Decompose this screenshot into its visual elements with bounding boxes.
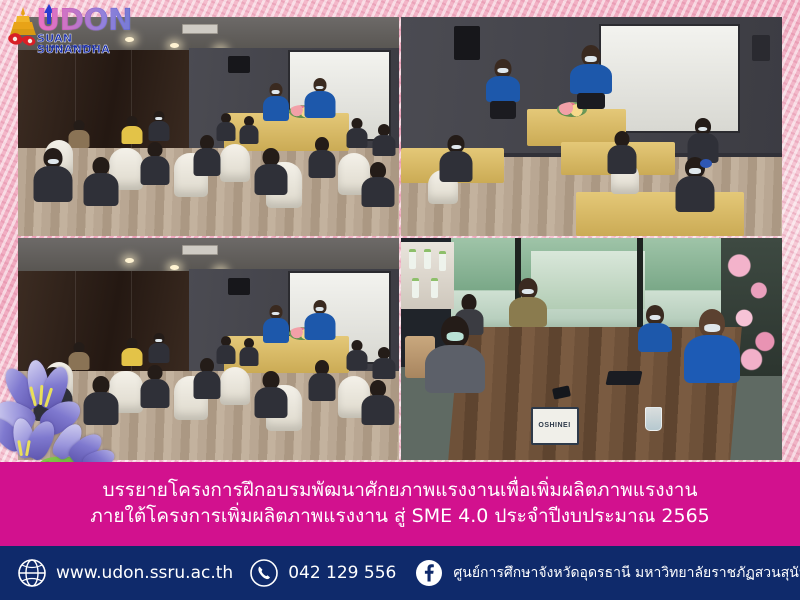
- attendee: [239, 116, 259, 143]
- downlight-icon: [170, 265, 179, 270]
- presenter-female: [262, 305, 290, 343]
- photo-top-right: [401, 17, 782, 236]
- face-mask: [689, 168, 701, 173]
- torso: [194, 371, 221, 399]
- seminar-room-scene: [401, 17, 782, 236]
- downlight-icon: [125, 258, 134, 263]
- title-banner: บรรยายโครงการฝึกอบรมพัฒนาศักยภาพแรงงานเพ…: [0, 462, 800, 546]
- skirt: [490, 101, 516, 119]
- photo-bottom-left: [18, 238, 399, 460]
- torso: [140, 379, 169, 408]
- head: [147, 142, 162, 157]
- product-bottle: [409, 249, 416, 269]
- head: [44, 367, 63, 387]
- face-mask: [522, 289, 533, 294]
- attendee-foreground: [193, 135, 221, 175]
- face-mask: [48, 377, 59, 382]
- wall-picture-frame: [752, 35, 770, 61]
- attendee-foreground: [361, 380, 395, 424]
- torso: [607, 145, 636, 174]
- attendee-foreground: [254, 148, 288, 194]
- torso: [509, 297, 547, 327]
- torso: [68, 130, 89, 148]
- phone-item[interactable]: 042 129 556: [249, 558, 396, 588]
- attendee-foreground: [254, 371, 288, 417]
- face-mask: [155, 117, 162, 120]
- face-mask: [446, 332, 463, 340]
- presenter-male: [304, 78, 336, 118]
- attendee: [372, 124, 396, 155]
- wall-speaker: [228, 278, 250, 295]
- photo-collage: OSHINEI: [18, 17, 782, 460]
- torso: [194, 148, 221, 176]
- poster: OSHINEI: [0, 0, 800, 600]
- torso: [34, 166, 73, 202]
- face-mask: [698, 127, 708, 131]
- attendee: [239, 338, 259, 365]
- torso: [239, 347, 258, 366]
- face-mask: [498, 68, 508, 73]
- torso: [255, 164, 288, 195]
- torso: [361, 177, 394, 207]
- head: [313, 300, 326, 314]
- torso: [121, 348, 142, 366]
- banner-line-1: บรรยายโครงการฝึกอบรมพัฒนาศักยภาพแรงงานเพ…: [103, 479, 698, 503]
- face-mask: [451, 145, 461, 150]
- torso: [373, 135, 396, 156]
- presenter-male: [304, 300, 336, 340]
- product-bottle: [431, 278, 438, 298]
- head: [646, 305, 664, 325]
- banquet-chair: [220, 367, 250, 405]
- attendee-foreground: [607, 131, 637, 173]
- torso: [34, 385, 73, 421]
- tablet-device: [605, 371, 642, 385]
- banquet-chair: [220, 144, 250, 182]
- facebook-text: ศูนย์การศึกษาจังหวัดอุดรธานี มหาวิทยาลัย…: [453, 562, 800, 584]
- wall-speaker: [228, 56, 250, 73]
- face-mask: [272, 90, 280, 94]
- attendee-foreground: [140, 365, 170, 407]
- attendee-foreground: [83, 157, 119, 205]
- attendee: [68, 120, 90, 147]
- facebook-item[interactable]: ศูนย์การศึกษาจังหวัดอุดรธานี มหาวิทยาลัย…: [414, 558, 800, 588]
- torso: [486, 76, 520, 102]
- torso: [148, 343, 169, 363]
- meeting-participant: [637, 305, 673, 351]
- outdoor-view: [531, 251, 645, 309]
- torso: [140, 156, 169, 185]
- attendee-foreground: [308, 137, 336, 177]
- facebook-icon: [414, 558, 444, 588]
- torso: [304, 313, 335, 340]
- website-text: www.udon.ssru.ac.th: [56, 563, 233, 583]
- head: [699, 309, 725, 338]
- attendee: [346, 340, 368, 369]
- torso: [83, 173, 118, 206]
- head: [147, 365, 162, 380]
- torso: [676, 176, 715, 212]
- torso: [239, 125, 258, 144]
- attendee-foreground: [687, 118, 719, 162]
- attendee: [121, 116, 143, 143]
- phone-text: 042 129 556: [288, 563, 396, 583]
- torso: [440, 151, 473, 182]
- thai-royal-emblem: [6, 6, 40, 48]
- attendee-foreground: [675, 157, 715, 211]
- torso: [304, 91, 335, 118]
- torso: [425, 345, 485, 393]
- torso: [263, 318, 289, 343]
- ceiling-vent: [182, 245, 218, 255]
- udon-ssru-logo: UDON SUAN SUNANDHA RAJABHAT UNIVERSITY: [6, 4, 126, 50]
- torso: [684, 335, 740, 383]
- table-sign: OSHINEI: [531, 407, 579, 445]
- photo-bottom-right: OSHINEI: [401, 238, 782, 460]
- face-mask: [316, 307, 324, 311]
- head: [44, 148, 63, 168]
- head: [581, 45, 600, 66]
- globe-icon: [17, 558, 47, 588]
- attendee-foreground: [33, 367, 73, 419]
- torso: [638, 323, 672, 352]
- attendee-foreground: [361, 162, 395, 206]
- staff-blue-polo: [683, 309, 741, 381]
- attendee-foreground: [140, 142, 170, 184]
- attendee: [121, 338, 143, 365]
- presenter-female: [262, 83, 290, 121]
- product-bottle: [412, 278, 419, 298]
- attendee-foreground: [193, 358, 221, 398]
- torso: [361, 395, 394, 425]
- head: [441, 316, 469, 348]
- torso: [148, 121, 169, 141]
- attendee-foreground: [439, 135, 473, 181]
- torso: [263, 96, 289, 121]
- product-bottle: [439, 251, 446, 271]
- hair-scrunchie: [700, 159, 712, 168]
- wall-speaker: [454, 26, 480, 60]
- torso: [255, 387, 288, 418]
- attendee-foreground: [308, 360, 336, 400]
- banner-line-2: ภายใต้โครงการเพิ่มผลิตภาพแรงงาน สู่ SME …: [90, 505, 710, 529]
- face-mask: [48, 159, 59, 164]
- attendee: [68, 342, 90, 369]
- face-mask: [155, 339, 162, 342]
- phone-icon: [249, 558, 279, 588]
- head: [313, 78, 326, 92]
- presenter-female: [485, 59, 521, 117]
- contact-footer: www.udon.ssru.ac.th 042 129 556 ศูนย์การ…: [0, 546, 800, 600]
- attendee: [148, 111, 170, 140]
- head: [518, 278, 537, 299]
- logo-tertiary-text: RAJABHAT UNIVERSITY: [38, 44, 101, 49]
- face-mask: [650, 315, 661, 320]
- seminar-room-scene: [18, 238, 399, 460]
- attendee-foreground: [33, 148, 73, 200]
- torso: [308, 373, 335, 401]
- head: [269, 305, 282, 319]
- face-mask: [316, 86, 324, 90]
- attendee: [148, 333, 170, 362]
- meeting-participant: [508, 278, 548, 326]
- face-mask: [704, 324, 720, 332]
- face-mask: [585, 56, 596, 61]
- torso: [346, 350, 367, 370]
- table-sign-text: OSHINEI: [538, 422, 570, 429]
- torso: [346, 128, 367, 148]
- torso: [83, 392, 118, 425]
- head: [269, 83, 282, 97]
- torso: [373, 358, 396, 379]
- attendee: [346, 118, 368, 147]
- face-mask: [272, 312, 280, 316]
- drinking-glass: [645, 407, 662, 431]
- attendee-table: [576, 192, 744, 236]
- torso: [570, 64, 612, 94]
- attendee-foreground: [83, 376, 119, 424]
- presenter-male: [569, 45, 613, 107]
- product-bottle: [424, 249, 431, 269]
- ceiling-vent: [182, 24, 218, 34]
- torso: [308, 150, 335, 178]
- cafe-meeting-scene: OSHINEI: [401, 238, 782, 460]
- meeting-participant-foreground: [424, 316, 486, 392]
- attendee: [372, 347, 396, 378]
- website-item[interactable]: www.udon.ssru.ac.th: [17, 558, 233, 588]
- trousers: [577, 93, 605, 109]
